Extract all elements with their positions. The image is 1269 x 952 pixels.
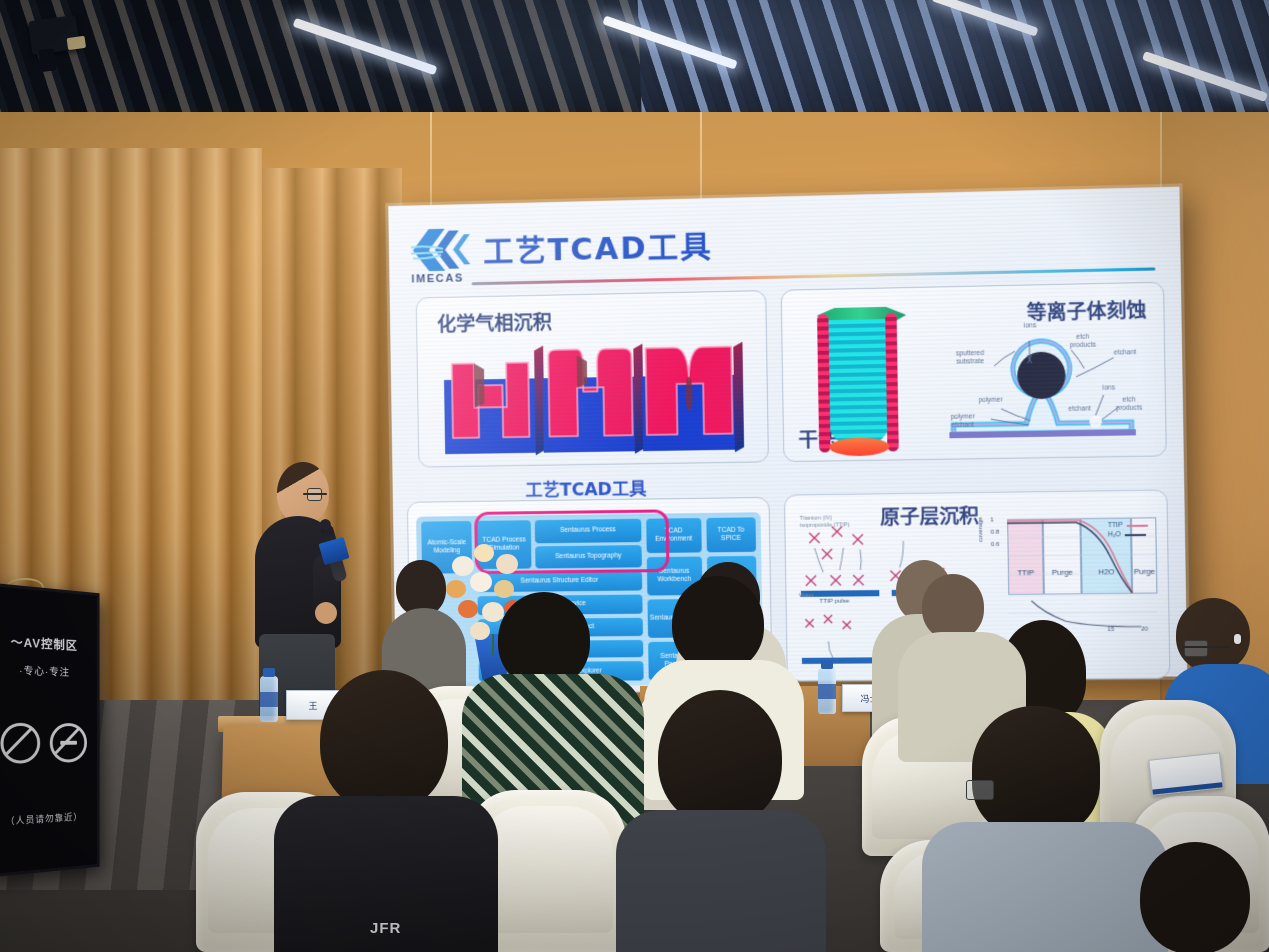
chart-xtick-1: 20 — [1141, 626, 1148, 632]
tcad-box-sentaurus-topography[interactable]: Sentaurus Topography — [535, 545, 641, 569]
tcad-box-sentaurus-process[interactable]: Sentaurus Process — [535, 519, 641, 543]
presenter-hand — [315, 602, 337, 624]
bottle-label — [818, 684, 836, 699]
audience-head — [1176, 598, 1250, 672]
photo-scene: ～AV控制区 ·专心·专注 （人员请勿靠近） 工艺TCAD工具 — [0, 0, 1269, 952]
tcad-box-tcad-environment[interactable]: TCAD Environment — [646, 518, 702, 553]
cvd-stage — [542, 338, 637, 452]
via-scalloped-body — [825, 319, 891, 448]
label-etch-products-2: etch products — [1112, 396, 1146, 413]
ald-step-ttip-pulse: TTIP pulse — [819, 599, 849, 607]
presenter-glasses — [303, 493, 327, 495]
av-sign-icons — [0, 723, 97, 769]
label-etchant: etchant — [1107, 349, 1143, 358]
flower — [470, 572, 492, 592]
cvd-trench-diagram — [443, 336, 745, 454]
no-smoking-icon — [50, 723, 87, 763]
audience-body — [616, 810, 826, 952]
label-sputtered-substrate: sputtered substrate — [946, 350, 994, 367]
cvd-film — [641, 336, 737, 451]
projector-lens-icon — [67, 36, 86, 50]
av-control-area-sign: ～AV控制区 ·专心·专注 （人员请勿靠近） — [0, 582, 100, 877]
audience-head-long-hair — [972, 706, 1100, 836]
audience-glasses-lens — [1184, 640, 1208, 657]
legend-swatch-ttip — [1127, 524, 1148, 526]
chart-legend: TTIP H₂O — [1108, 522, 1148, 541]
imecas-logo-icon — [409, 222, 472, 278]
panel-cvd-title: 化学气相沉积 — [437, 308, 552, 337]
label-etch-products: etch products — [1065, 333, 1101, 350]
audience-member — [468, 592, 636, 822]
panel-etch: 等离子体刻蚀 干法刻蚀 — [781, 282, 1167, 463]
tcad-process-stack: Sentaurus Process Sentaurus Topography — [535, 519, 641, 569]
name-placard — [1148, 752, 1223, 795]
label-polymer-etchant: polymer etchant — [941, 413, 985, 430]
audience-glasses — [1182, 646, 1230, 648]
av-sign-line-3: （人员请勿靠近） — [0, 809, 97, 829]
label-ions: ions — [1014, 322, 1046, 331]
microphone-head-icon — [319, 518, 333, 532]
label-polymer: polymer — [974, 396, 1008, 405]
imecas-logo-text: IMECAS — [411, 272, 464, 285]
bottle-cap — [821, 660, 833, 669]
av-sign-line-2: ·专心·专注 — [0, 660, 97, 679]
via-sidewall — [817, 314, 831, 452]
earbud-icon — [1234, 634, 1241, 644]
audience-glasses-lens — [966, 780, 994, 800]
flower — [496, 554, 518, 574]
jacket-text: JFR — [370, 920, 401, 937]
cvd-stage — [641, 336, 737, 451]
audience-head — [658, 690, 782, 826]
label-ions-2: ions — [1095, 384, 1122, 393]
audience-head — [320, 670, 448, 812]
legend-label-ttip: TTIP — [1108, 522, 1123, 529]
cigarette-glyph — [60, 741, 77, 745]
slide-title: 工艺TCAD工具 — [483, 221, 713, 271]
audience-member-front — [620, 690, 820, 952]
legend-label-h2o: H₂O — [1108, 531, 1121, 538]
flower — [474, 544, 494, 562]
dry-etch-via-diagram — [813, 306, 910, 452]
tcad-box-tcad-to-spice[interactable]: TCAD To SPICE — [706, 517, 756, 552]
legend-entry-h2o: H₂O — [1108, 531, 1148, 539]
cvd-film — [443, 340, 537, 454]
cvd-film — [542, 338, 637, 452]
av-sign-line-1: ～AV控制区 — [0, 631, 97, 654]
audience-member-front — [1126, 842, 1269, 952]
audience-member-front: JFR — [274, 670, 490, 952]
panel-cvd: 化学气相沉积 — [416, 290, 769, 468]
label-etchant-2: etchant — [1062, 405, 1098, 414]
no-entry-icon — [0, 723, 40, 764]
water-bottle — [818, 668, 836, 714]
via-bottom — [829, 437, 889, 456]
cvd-stage — [443, 340, 537, 454]
ald-reagent-note: Titanium (IV) isopropoxide (TTIP) — [800, 515, 862, 529]
presenter-head — [277, 462, 329, 524]
audience-head — [1140, 842, 1250, 952]
cvd-side-face — [733, 342, 744, 452]
via-sidewall — [885, 313, 899, 452]
legend-entry-ttip: TTIP — [1108, 522, 1148, 530]
legend-swatch-h2o — [1125, 533, 1146, 535]
plasma-etch-profile-diagram: ions sputtered substrate etch products e… — [937, 318, 1146, 449]
audience-head — [672, 576, 764, 672]
ceiling-projector — [28, 15, 80, 55]
audience-head — [922, 574, 984, 640]
